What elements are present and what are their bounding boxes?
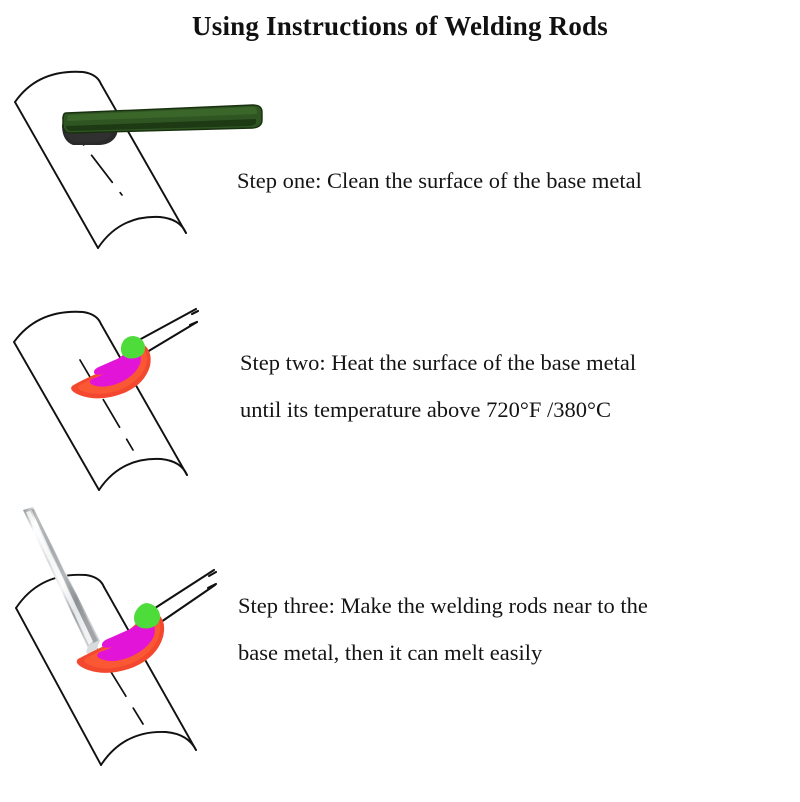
green-brush-handle (63, 105, 262, 133)
step-one-line-1: Step one: Clean the surface of the base … (237, 157, 642, 204)
torch-nozzle (152, 570, 216, 622)
torch-nozzle (139, 309, 198, 352)
half-cylinder-pipe (14, 312, 187, 490)
instruction-sheet: Using Instructions of Welding Rods (0, 0, 800, 800)
silver-welding-rod (23, 507, 100, 656)
step-two-line-2: until its temperature above 720°F /380°C (240, 386, 636, 433)
step-two-instruction: Step two: Heat the surface of the base m… (240, 339, 636, 433)
page-title: Using Instructions of Welding Rods (0, 11, 800, 42)
step-three-instruction: Step three: Make the welding rods near t… (238, 582, 648, 676)
step-three-line-2: base metal, then it can melt easily (238, 629, 648, 676)
half-cylinder-pipe (15, 72, 186, 248)
illustration-step-two (0, 292, 250, 502)
illustration-step-three (0, 500, 270, 800)
step-three-line-1: Step three: Make the welding rods near t… (238, 582, 648, 629)
step-two-line-1: Step two: Heat the surface of the base m… (240, 339, 636, 386)
step-one-instruction: Step one: Clean the surface of the base … (237, 157, 642, 204)
